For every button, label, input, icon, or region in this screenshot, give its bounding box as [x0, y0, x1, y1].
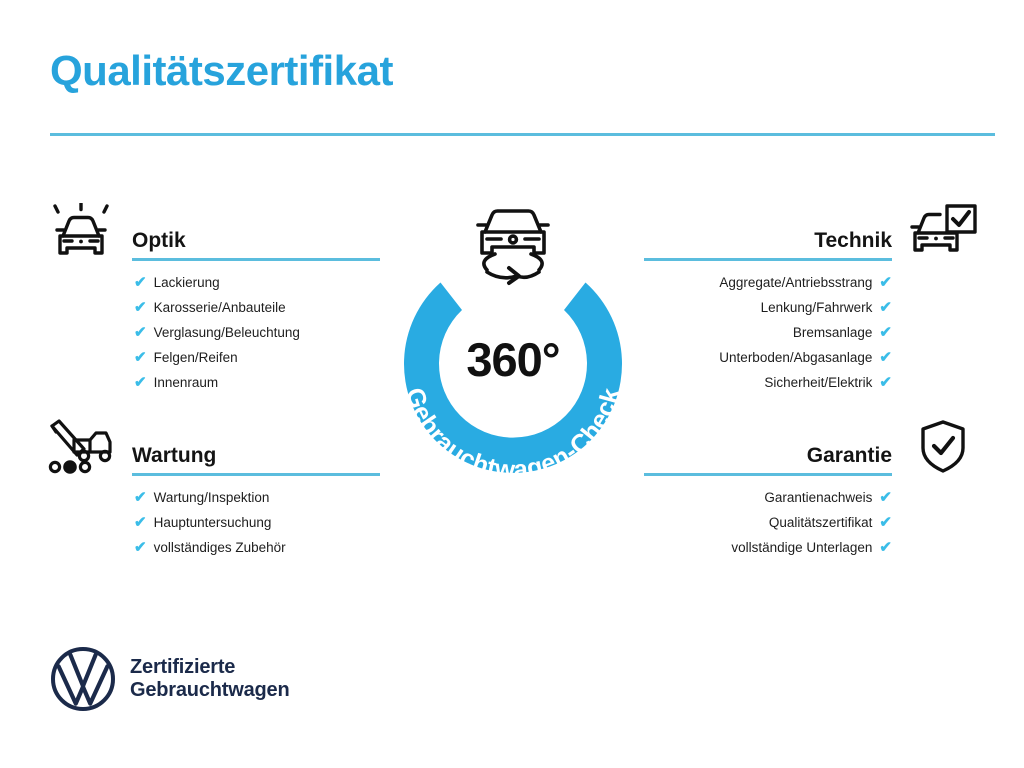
check-icon: ✔ — [134, 300, 147, 315]
header-divider — [50, 133, 995, 136]
list-item-label: vollständiges Zubehör — [154, 541, 286, 555]
check-icon: ✔ — [879, 300, 892, 315]
list-item-label: Verglasung/Beleuchtung — [154, 326, 300, 340]
badge-center-label: 360° — [373, 336, 653, 383]
list-item: ✔ vollständige Unterlagen — [640, 540, 980, 555]
section-divider — [132, 473, 380, 476]
list-item: ✔ Lackierung — [44, 275, 384, 290]
check-icon: ✔ — [134, 375, 147, 390]
badge-360-check: Gebrauchtwagen-Check 360° — [373, 196, 653, 486]
check-icon: ✔ — [134, 540, 147, 555]
list-item: ✔ Felgen/Reifen — [44, 350, 384, 365]
list-item: ✔ Wartung/Inspektion — [44, 490, 384, 505]
list-item-label: vollständige Unterlagen — [731, 541, 872, 555]
list-item-label: Qualitätszertifikat — [769, 516, 873, 530]
check-icon: ✔ — [879, 540, 892, 555]
list-item-label: Aggregate/Antriebsstrang — [719, 276, 872, 290]
section-technik: Technik ✔ Aggregate/Antriebsstrang ✔ Len… — [640, 203, 980, 400]
check-icon: ✔ — [134, 325, 147, 340]
check-icon: ✔ — [879, 490, 892, 505]
list-item-label: Garantienachweis — [764, 491, 872, 505]
section-garantie: Garantie ✔ Garantienachweis ✔ Qualitätsz… — [640, 418, 980, 565]
list-item-label: Karosserie/Anbauteile — [154, 301, 286, 315]
list-item: ✔ Aggregate/Antriebsstrang — [640, 275, 980, 290]
list-item: ✔ Karosserie/Anbauteile — [44, 300, 384, 315]
list-item: ✔ vollständiges Zubehör — [44, 540, 384, 555]
list-item: ✔ Lenkung/Fahrwerk — [640, 300, 980, 315]
section-divider — [132, 258, 380, 261]
section-optik: Optik ✔ Lackierung ✔ Karosserie/Anbautei… — [44, 203, 384, 400]
list-item: ✔ Garantienachweis — [640, 490, 980, 505]
certificate-page: Qualitätszertifikat Optik — [0, 0, 1024, 768]
check-list-technik: ✔ Aggregate/Antriebsstrang ✔ Lenkung/Fah… — [640, 275, 980, 390]
list-item-label: Wartung/Inspektion — [154, 491, 270, 505]
list-item: ✔ Innenraum — [44, 375, 384, 390]
check-icon: ✔ — [879, 350, 892, 365]
section-title: Wartung — [132, 445, 216, 466]
car-shine-icon — [44, 203, 118, 261]
car-checkbox-icon — [906, 203, 980, 261]
list-item-label: Unterboden/Abgasanlage — [719, 351, 872, 365]
section-title: Optik — [132, 230, 186, 251]
check-icon: ✔ — [134, 515, 147, 530]
list-item: ✔ Bremsanlage — [640, 325, 980, 340]
check-list-optik: ✔ Lackierung ✔ Karosserie/Anbauteile ✔ V… — [44, 275, 384, 390]
service-pen-car-icon — [44, 418, 118, 476]
vw-logo-block: Zertifizierte Gebrauchtwagen — [50, 646, 289, 712]
list-item-label: Hauptuntersuchung — [154, 516, 272, 530]
list-item: ✔ Sicherheit/Elektrik — [640, 375, 980, 390]
check-icon: ✔ — [134, 490, 147, 505]
check-icon: ✔ — [134, 275, 147, 290]
list-item-label: Innenraum — [154, 376, 219, 390]
check-icon: ✔ — [879, 325, 892, 340]
section-divider — [644, 473, 892, 476]
list-item: ✔ Verglasung/Beleuchtung — [44, 325, 384, 340]
section-title: Garantie — [807, 445, 892, 466]
check-icon: ✔ — [879, 515, 892, 530]
vw-logo-line-2: Gebrauchtwagen — [130, 679, 289, 702]
list-item-label: Lenkung/Fahrwerk — [761, 301, 873, 315]
check-list-garantie: ✔ Garantienachweis ✔ Qualitätszertifikat… — [640, 490, 980, 555]
check-list-wartung: ✔ Wartung/Inspektion ✔ Hauptuntersuchung… — [44, 490, 384, 555]
check-icon: ✔ — [134, 350, 147, 365]
list-item: ✔ Qualitätszertifikat — [640, 515, 980, 530]
list-item: ✔ Unterboden/Abgasanlage — [640, 350, 980, 365]
section-divider — [644, 258, 892, 261]
section-header: Technik — [640, 203, 980, 265]
section-header: Garantie — [640, 418, 980, 480]
section-header: Optik — [44, 203, 384, 265]
check-icon: ✔ — [879, 275, 892, 290]
section-title: Technik — [814, 230, 892, 251]
vw-logo-icon — [50, 646, 116, 712]
page-title: Qualitätszertifikat — [50, 50, 393, 92]
vw-logo-line-1: Zertifizierte — [130, 656, 289, 679]
shield-check-icon — [906, 418, 980, 476]
list-item-label: Bremsanlage — [793, 326, 873, 340]
list-item-label: Sicherheit/Elektrik — [764, 376, 872, 390]
check-icon: ✔ — [879, 375, 892, 390]
list-item-label: Lackierung — [154, 276, 220, 290]
list-item: ✔ Hauptuntersuchung — [44, 515, 384, 530]
list-item-label: Felgen/Reifen — [154, 351, 238, 365]
section-header: Wartung — [44, 418, 384, 480]
section-wartung: Wartung ✔ Wartung/Inspektion ✔ Hauptunte… — [44, 418, 384, 565]
vw-logo-text: Zertifizierte Gebrauchtwagen — [130, 656, 289, 702]
